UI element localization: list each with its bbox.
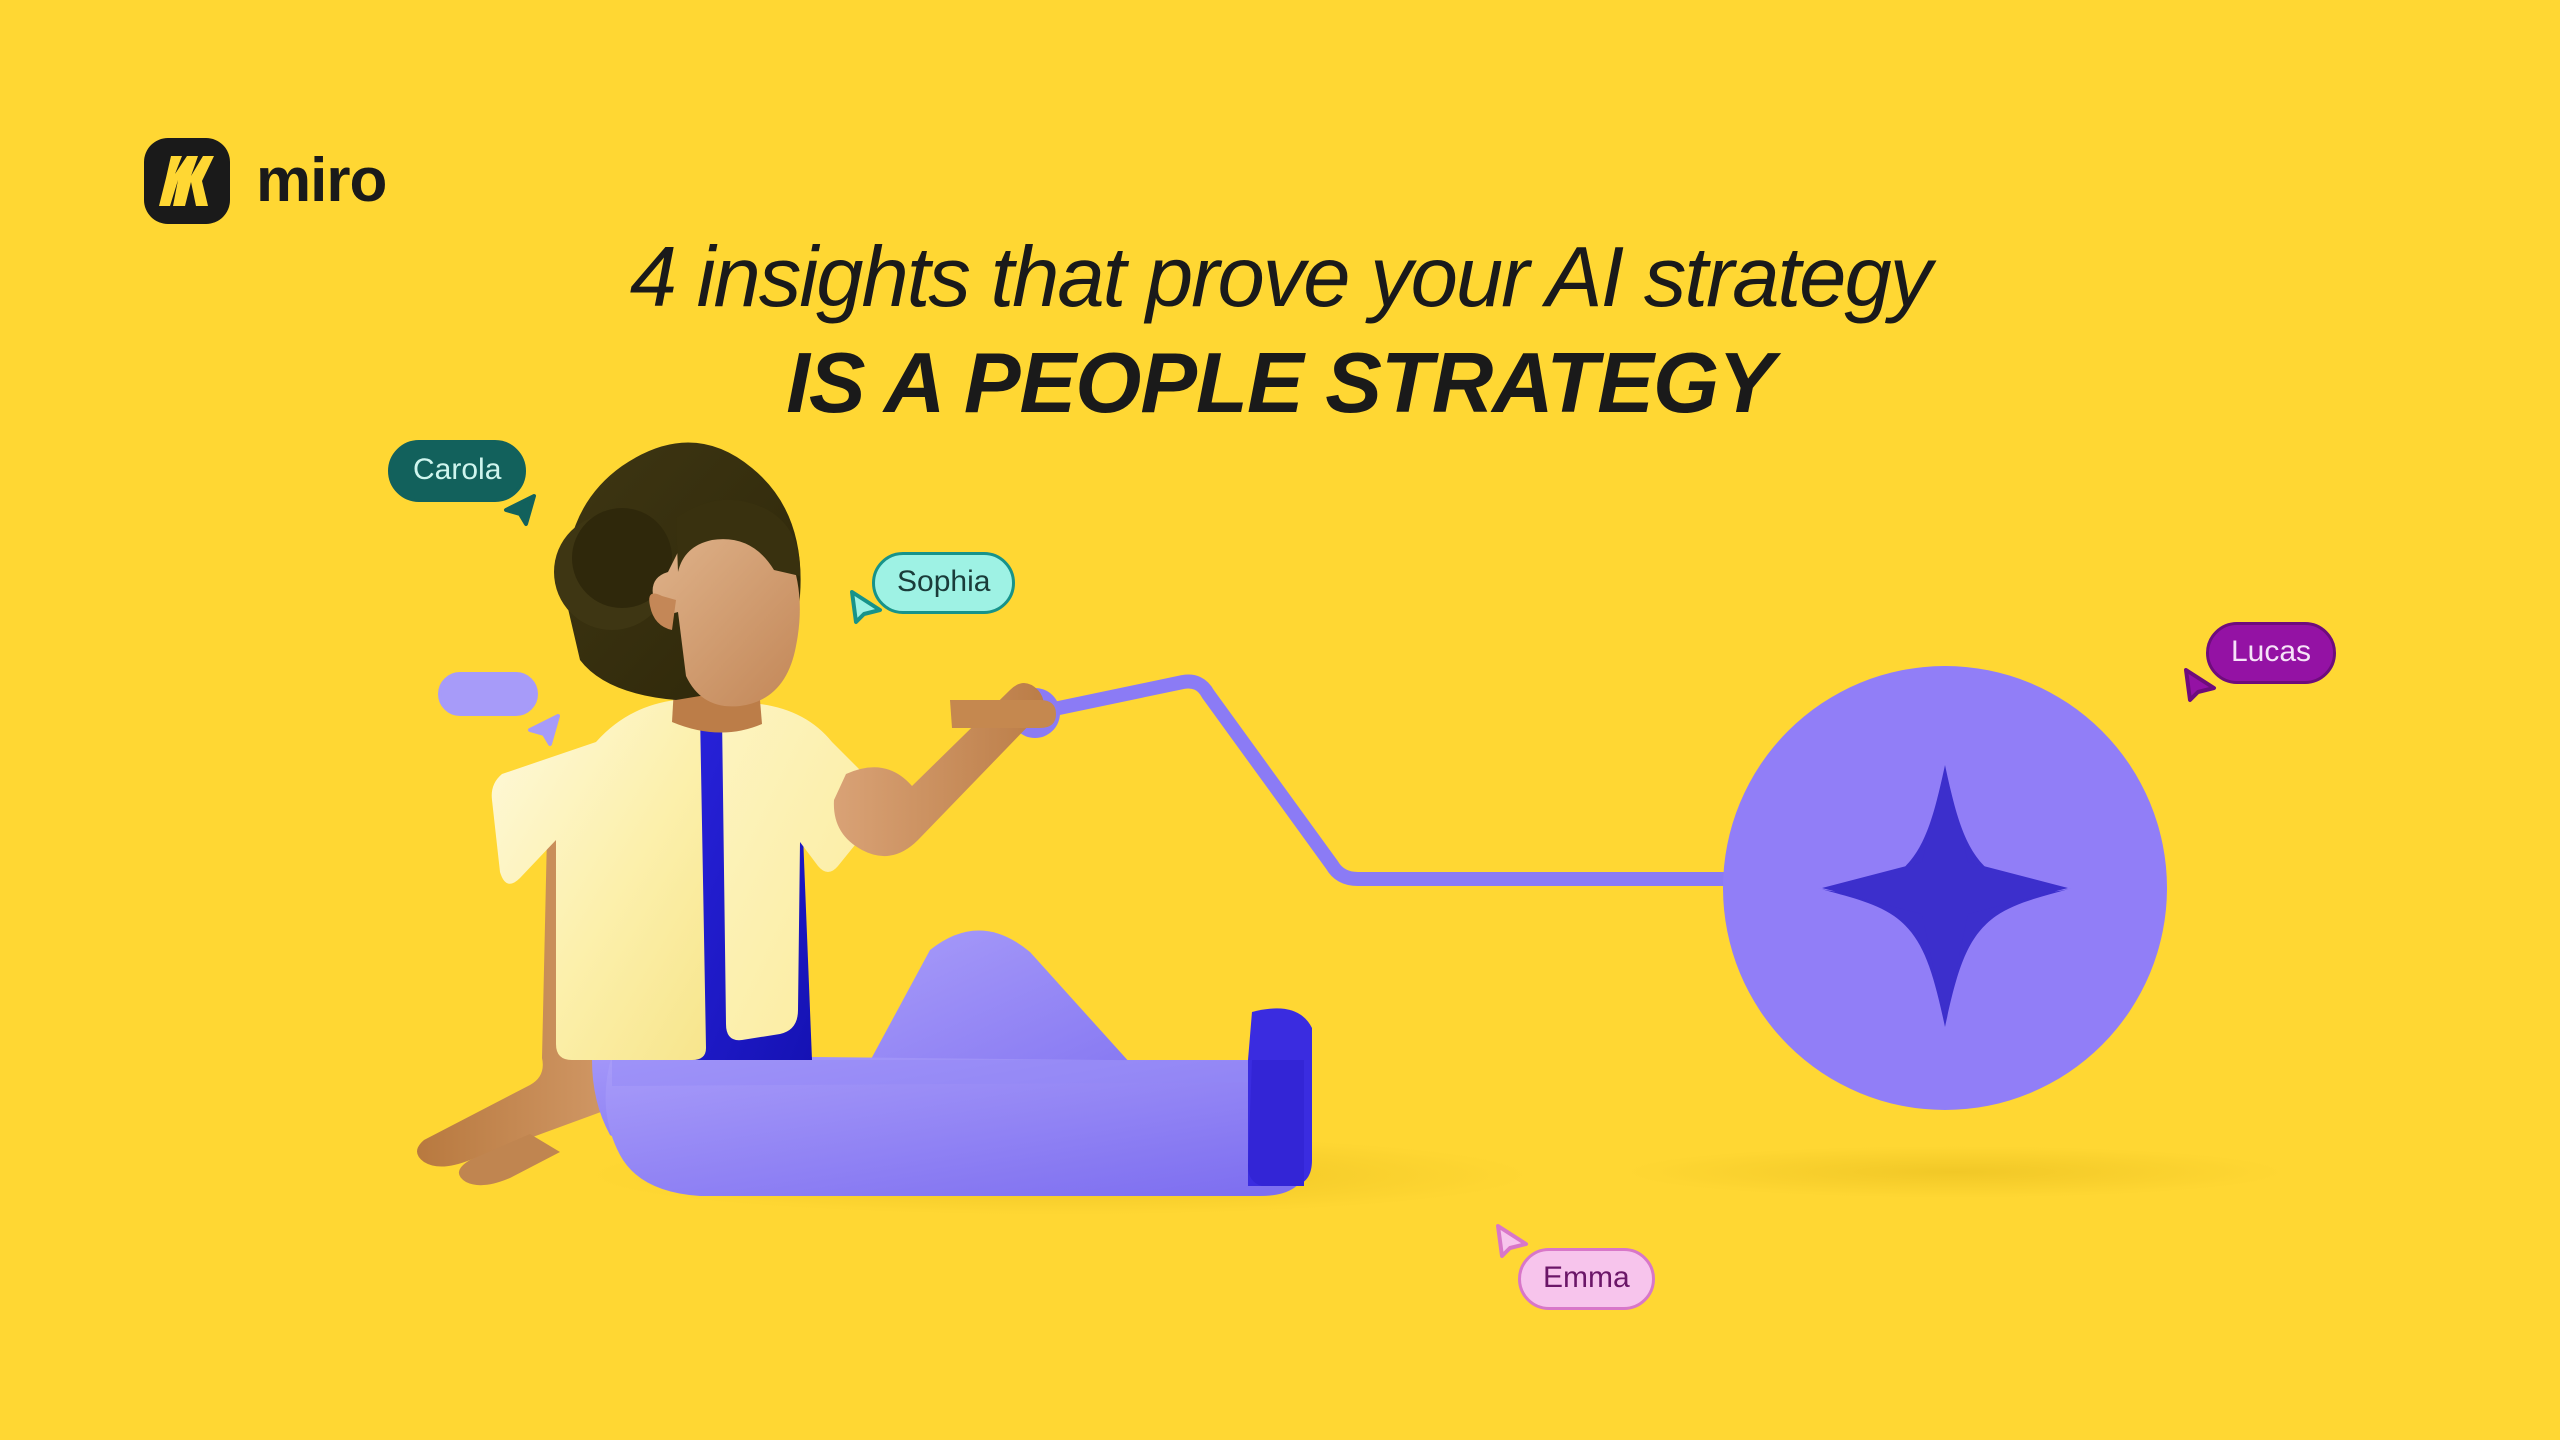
- cursor-label-carola-text: Carola: [413, 455, 501, 485]
- cursor-label-sophia-text: Sophia: [897, 567, 990, 597]
- seated-woman-pointing-icon: [417, 442, 1312, 1196]
- connector-line-icon: [1010, 682, 1745, 880]
- cursor-pointer-lucas: [2176, 662, 2220, 706]
- cursor-label-lucas[interactable]: Lucas: [2206, 622, 2336, 684]
- miro-wordmark: miro: [256, 150, 386, 212]
- headline-block: 4 insights that prove your AI strategy I…: [0, 232, 2560, 430]
- cursor-label-emma[interactable]: Emma: [1518, 1248, 1655, 1310]
- miro-logo[interactable]: miro: [144, 138, 386, 224]
- cursor-pointer-anonymous: [524, 706, 566, 748]
- headline-line-1: 4 insights that prove your AI strategy: [0, 232, 2560, 324]
- cursor-pointer-sophia: [842, 584, 886, 628]
- cursor-label-sophia[interactable]: Sophia: [872, 552, 1015, 614]
- headline-line-2: IS A PEOPLE STRATEGY: [0, 338, 2560, 430]
- cursor-label-emma-text: Emma: [1543, 1263, 1630, 1293]
- cursor-pointer-emma: [1488, 1218, 1532, 1262]
- cursor-label-anonymous[interactable]: [438, 672, 538, 716]
- cursor-label-lucas-text: Lucas: [2231, 637, 2311, 667]
- slide-canvas: miro 4 insights that prove your AI strat…: [0, 0, 2560, 1440]
- ai-sparkle-icon: [1723, 666, 2167, 1110]
- cursor-pointer-carola: [500, 486, 542, 528]
- miro-logo-icon: [144, 138, 230, 224]
